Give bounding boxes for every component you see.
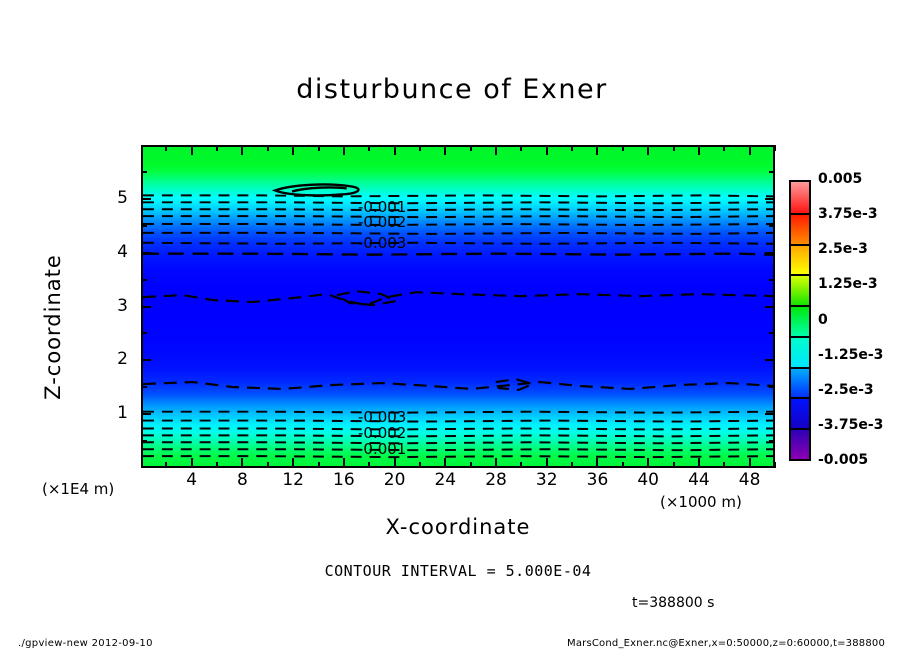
x-axis-tick <box>673 145 675 151</box>
x-tick-label: 16 <box>324 470 364 490</box>
y-axis-tick <box>769 279 775 281</box>
x-axis-tick <box>343 458 345 468</box>
y-axis-tick <box>141 440 147 442</box>
x-axis-tick <box>571 145 573 151</box>
colorbar-band <box>791 182 809 213</box>
x-axis-tick <box>749 145 751 155</box>
colorbar-separator <box>791 428 809 430</box>
time-label: t=388800 s <box>632 595 714 611</box>
y-tick-label: 5 <box>96 188 128 208</box>
x-axis-tick <box>368 462 370 468</box>
y-axis-tick <box>765 252 775 254</box>
colorbar-band <box>791 336 809 367</box>
x-axis-tick <box>165 462 167 468</box>
x-axis-tick <box>520 462 522 468</box>
x-tick-label: 32 <box>527 470 567 490</box>
x-axis-tick <box>774 145 776 151</box>
x-axis-tick <box>394 458 396 468</box>
x-axis-tick <box>444 458 446 468</box>
y-tick-label: 3 <box>96 296 128 316</box>
contour-field <box>143 147 773 466</box>
x-axis-tick <box>698 458 700 468</box>
colorbar-tick-label: -3.75e-3 <box>818 417 883 433</box>
contour-value-label: -0.002 <box>358 213 406 231</box>
x-axis-title: X-coordinate <box>141 515 775 539</box>
x-tick-label: 28 <box>476 470 516 490</box>
colorbar-tick-label: -1.25e-3 <box>818 347 883 363</box>
x-axis-tick <box>495 145 497 155</box>
x-tick-label: 12 <box>273 470 313 490</box>
colorbar-band <box>791 428 809 459</box>
x-axis-tick <box>267 462 269 468</box>
y-axis-tick <box>769 171 775 173</box>
y-axis-tick <box>765 306 775 308</box>
x-axis-tick <box>622 145 624 151</box>
x-axis-tick <box>292 145 294 155</box>
colorbar-separator <box>791 244 809 246</box>
x-axis-tick <box>318 462 320 468</box>
y-axis-tick <box>141 171 147 173</box>
x-tick-label: 8 <box>222 470 262 490</box>
x-axis-tick <box>216 145 218 151</box>
y-axis-tick <box>141 386 147 388</box>
colorbar-tick-label: -0.005 <box>818 452 868 468</box>
colorbar-tick-label: 3.75e-3 <box>818 206 878 222</box>
y-axis-title: Z-coordinate <box>41 227 65 427</box>
x-axis-tick <box>622 462 624 468</box>
x-axis-tick <box>698 145 700 155</box>
y-axis-tick <box>141 225 147 227</box>
x-tick-label: 20 <box>375 470 415 490</box>
x-axis-unit: (×1000 m) <box>660 493 742 511</box>
x-axis-tick <box>596 458 598 468</box>
x-tick-label: 44 <box>679 470 719 490</box>
y-axis-tick <box>141 198 151 200</box>
colorbar-band <box>791 397 809 428</box>
x-axis-tick <box>520 145 522 151</box>
x-tick-label: 48 <box>730 470 770 490</box>
y-axis-tick <box>765 413 775 415</box>
x-axis-tick <box>647 145 649 155</box>
x-axis-tick <box>419 462 421 468</box>
x-axis-tick <box>241 145 243 155</box>
colorbar-band <box>791 213 809 244</box>
colorbar-tick-label: 0.005 <box>818 171 862 187</box>
y-axis-tick <box>141 332 147 334</box>
x-axis-tick <box>419 145 421 151</box>
footer-command: ./gpview-new 2012-09-10 <box>18 638 153 649</box>
contour-plot-area[interactable] <box>141 145 775 468</box>
y-axis-tick <box>765 359 775 361</box>
x-axis-tick <box>470 462 472 468</box>
colorbar-separator <box>791 213 809 215</box>
y-axis-tick <box>141 359 151 361</box>
x-axis-tick <box>216 462 218 468</box>
colorbar-tick-label: -2.5e-3 <box>818 382 874 398</box>
colorbar-separator <box>791 367 809 369</box>
x-axis-tick <box>647 458 649 468</box>
x-tick-label: 4 <box>172 470 212 490</box>
x-axis-tick <box>165 145 167 151</box>
x-tick-label: 36 <box>577 470 617 490</box>
x-axis-tick <box>267 145 269 151</box>
y-axis-tick <box>769 332 775 334</box>
colorbar-band <box>791 274 809 305</box>
y-tick-label: 2 <box>96 349 128 369</box>
colorbar-separator <box>791 305 809 307</box>
y-axis-tick <box>769 225 775 227</box>
x-tick-label: 24 <box>425 470 465 490</box>
x-axis-tick <box>495 458 497 468</box>
footer-source: MarsCond_Exner.nc@Exner,x=0:50000,z=0:60… <box>567 638 885 649</box>
colorbar-band <box>791 244 809 275</box>
colorbar-tick-label: 1.25e-3 <box>818 276 878 292</box>
page-title: disturbunce of Exner <box>0 74 904 105</box>
x-axis-tick <box>241 458 243 468</box>
x-axis-tick <box>191 458 193 468</box>
colorbar-tick-label: 2.5e-3 <box>818 241 868 257</box>
colorbar-separator <box>791 336 809 338</box>
x-axis-tick <box>444 145 446 155</box>
colorbar[interactable] <box>789 180 811 461</box>
x-axis-tick <box>343 145 345 155</box>
y-axis-unit: (×1E4 m) <box>42 480 114 498</box>
x-axis-tick <box>470 145 472 151</box>
x-axis-tick <box>292 458 294 468</box>
x-axis-tick <box>596 145 598 155</box>
x-axis-tick <box>723 462 725 468</box>
contour-value-label: -0.003 <box>358 234 406 252</box>
x-axis-tick <box>673 462 675 468</box>
y-axis-tick <box>141 413 151 415</box>
y-axis-tick <box>141 306 151 308</box>
x-axis-tick <box>546 458 548 468</box>
x-axis-tick <box>191 145 193 155</box>
colorbar-band <box>791 367 809 398</box>
x-axis-tick <box>774 462 776 468</box>
y-tick-label: 4 <box>96 242 128 262</box>
contour-interval-label: CONTOUR INTERVAL = 5.000E-04 <box>141 562 775 580</box>
y-axis-tick <box>141 279 147 281</box>
x-axis-tick <box>546 145 548 155</box>
contour-value-label: -0.001 <box>358 440 406 458</box>
colorbar-band <box>791 305 809 336</box>
colorbar-separator <box>791 397 809 399</box>
colorbar-separator <box>791 274 809 276</box>
x-tick-label: 40 <box>628 470 668 490</box>
x-axis-tick <box>318 145 320 151</box>
colorbar-tick-label: 0 <box>818 312 828 328</box>
x-axis-tick <box>723 145 725 151</box>
x-axis-tick <box>394 145 396 155</box>
x-axis-tick <box>368 145 370 151</box>
y-tick-label: 1 <box>96 403 128 423</box>
x-axis-tick <box>571 462 573 468</box>
y-axis-tick <box>141 252 151 254</box>
y-axis-tick <box>769 440 775 442</box>
x-axis-tick <box>749 458 751 468</box>
y-axis-tick <box>769 386 775 388</box>
y-axis-tick <box>765 198 775 200</box>
